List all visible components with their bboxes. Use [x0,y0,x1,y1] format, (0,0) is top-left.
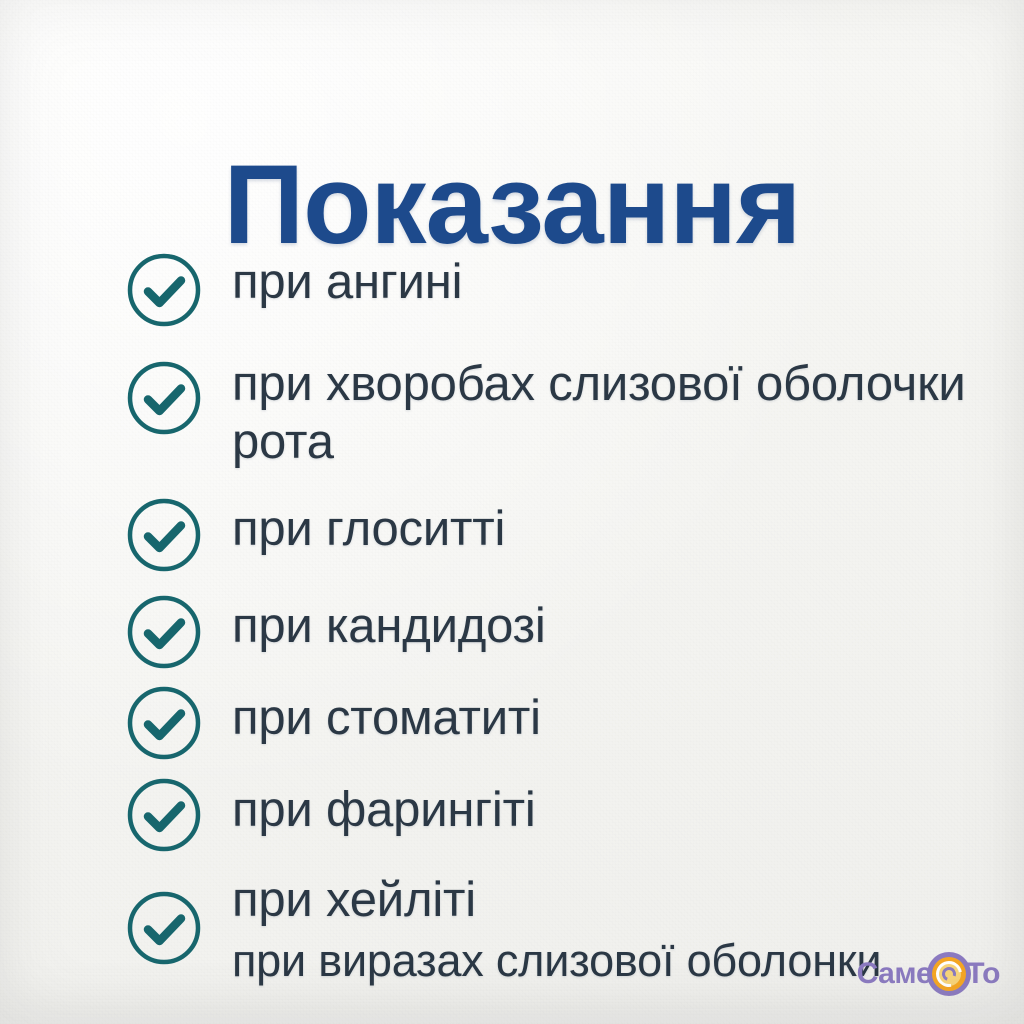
poster-canvas: Показання при ангині при хворобах [0,0,1024,1024]
list-item-label: при ангині [232,248,462,311]
list-item-label: при глоситті [232,495,505,558]
check-circle-icon [126,497,202,573]
list-item: при глоситті [126,495,1006,579]
list-item-text: при кандидозі [232,597,546,655]
list-item-label: при хворобах слизової оболочки рота [232,350,1006,471]
list-item-text: при стоматиті [232,689,541,747]
brand-logo-word-left: Саме [857,959,933,989]
check-circle-icon [126,685,202,761]
list-item-text: при хворобах слизової оболочки рота [232,355,1006,471]
indications-list: при ангині при хворобах слизової оболочк… [126,248,1006,989]
list-item-label: при кандидозі [232,592,546,655]
list-item: при фарингіті [126,776,1006,860]
brand-logo-word-right: То [966,959,1000,989]
list-item: при хворобах слизової оболочки рота [126,350,1006,471]
check-circle-icon [126,594,202,670]
check-circle-icon [126,777,202,853]
list-item-label: при фарингіті [232,776,536,839]
list-item-text: при фарингіті [232,781,536,839]
page-title: Показання [0,149,1024,261]
list-item-text: при хейліті [232,871,881,929]
list-item-label: при стоматиті [232,684,541,747]
check-circle-icon [126,890,202,966]
list-item: при ангині [126,248,1006,332]
check-circle-icon [126,252,202,328]
list-item-text: при глоситті [232,500,505,558]
list-item-subtext: при виразах слизової оболонки [232,933,881,989]
list-item: при кандидозі [126,592,1006,676]
list-item: при стоматиті [126,684,1006,768]
list-item-label: при хейліті при виразах слизової оболонк… [232,866,881,989]
check-circle-icon [126,360,202,436]
brand-logo-mark-icon [927,952,971,996]
brand-logo: Саме То [857,952,1000,996]
list-item-text: при ангині [232,253,462,311]
